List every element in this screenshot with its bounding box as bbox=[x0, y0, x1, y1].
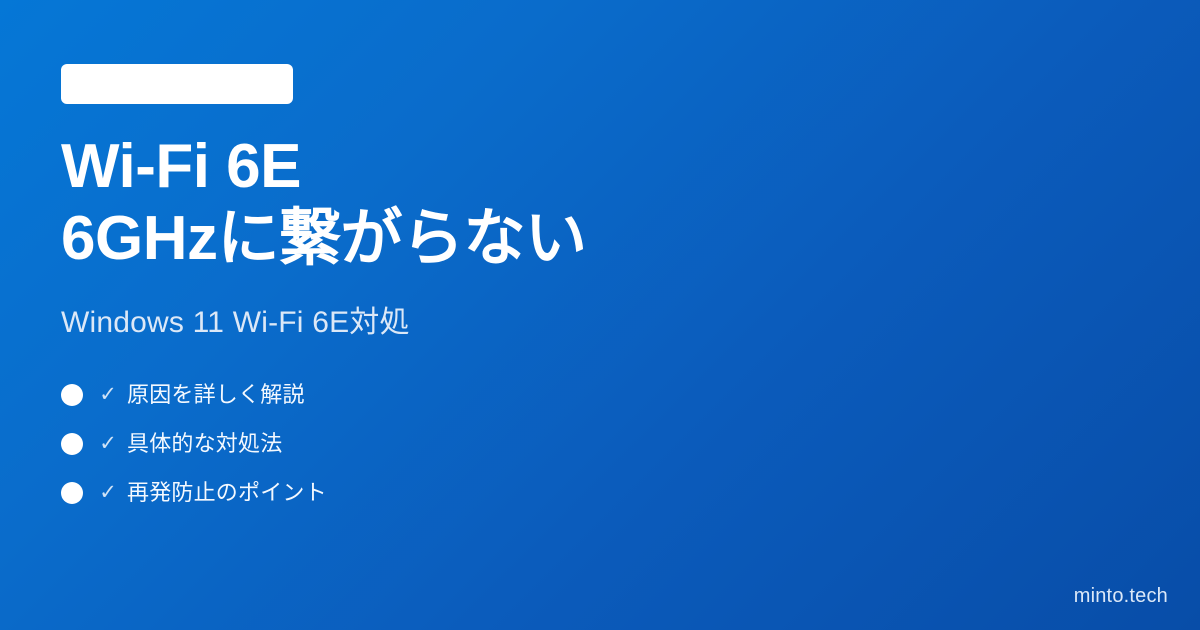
feature-list: ✓ 原因を詳しく解説 ✓ 具体的な対処法 ✓ 再発防止のポイント bbox=[61, 381, 327, 506]
list-item: ✓ 再発防止のポイント bbox=[61, 479, 327, 506]
bullet-dot-icon bbox=[61, 384, 83, 406]
category-badge bbox=[61, 64, 293, 104]
page-subtitle: Windows 11 Wi-Fi 6E対処 bbox=[61, 303, 410, 343]
bullet-dot-icon bbox=[61, 433, 83, 455]
feature-label: 具体的な対処法 bbox=[127, 430, 282, 457]
site-brand: minto.tech bbox=[1074, 584, 1168, 608]
check-icon: ✓ bbox=[97, 482, 119, 504]
page-title: Wi-Fi 6E 6GHzに繋がらない bbox=[61, 131, 586, 275]
feature-label: 再発防止のポイント bbox=[127, 479, 327, 506]
list-item: ✓ 具体的な対処法 bbox=[61, 430, 327, 457]
check-icon: ✓ bbox=[97, 384, 119, 406]
check-icon: ✓ bbox=[97, 433, 119, 455]
og-card: Wi-Fi 6E 6GHzに繋がらない Windows 11 Wi-Fi 6E対… bbox=[0, 0, 1200, 630]
list-item: ✓ 原因を詳しく解説 bbox=[61, 381, 327, 408]
feature-label: 原因を詳しく解説 bbox=[127, 381, 305, 408]
page-title-line-2: 6GHzに繋がらない bbox=[61, 203, 586, 275]
bullet-dot-icon bbox=[61, 482, 83, 504]
page-title-line-1: Wi-Fi 6E bbox=[61, 131, 586, 203]
